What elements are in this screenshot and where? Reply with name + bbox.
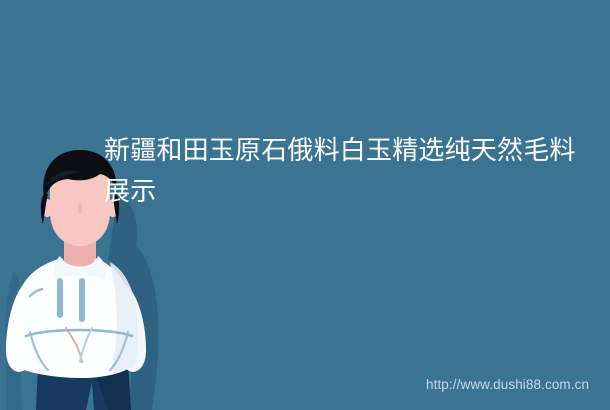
page-title: 新疆和田玉原石俄料白玉精选纯天然毛料展示 [104,131,582,213]
drawstring-right [79,278,85,322]
image-canvas: 新疆和田玉原石俄料白玉精选纯天然毛料展示 http://www.dushi88.… [0,0,610,410]
watermark-url: http://www.dushi88.com.cn [426,377,589,393]
drawstring-left [57,278,63,318]
